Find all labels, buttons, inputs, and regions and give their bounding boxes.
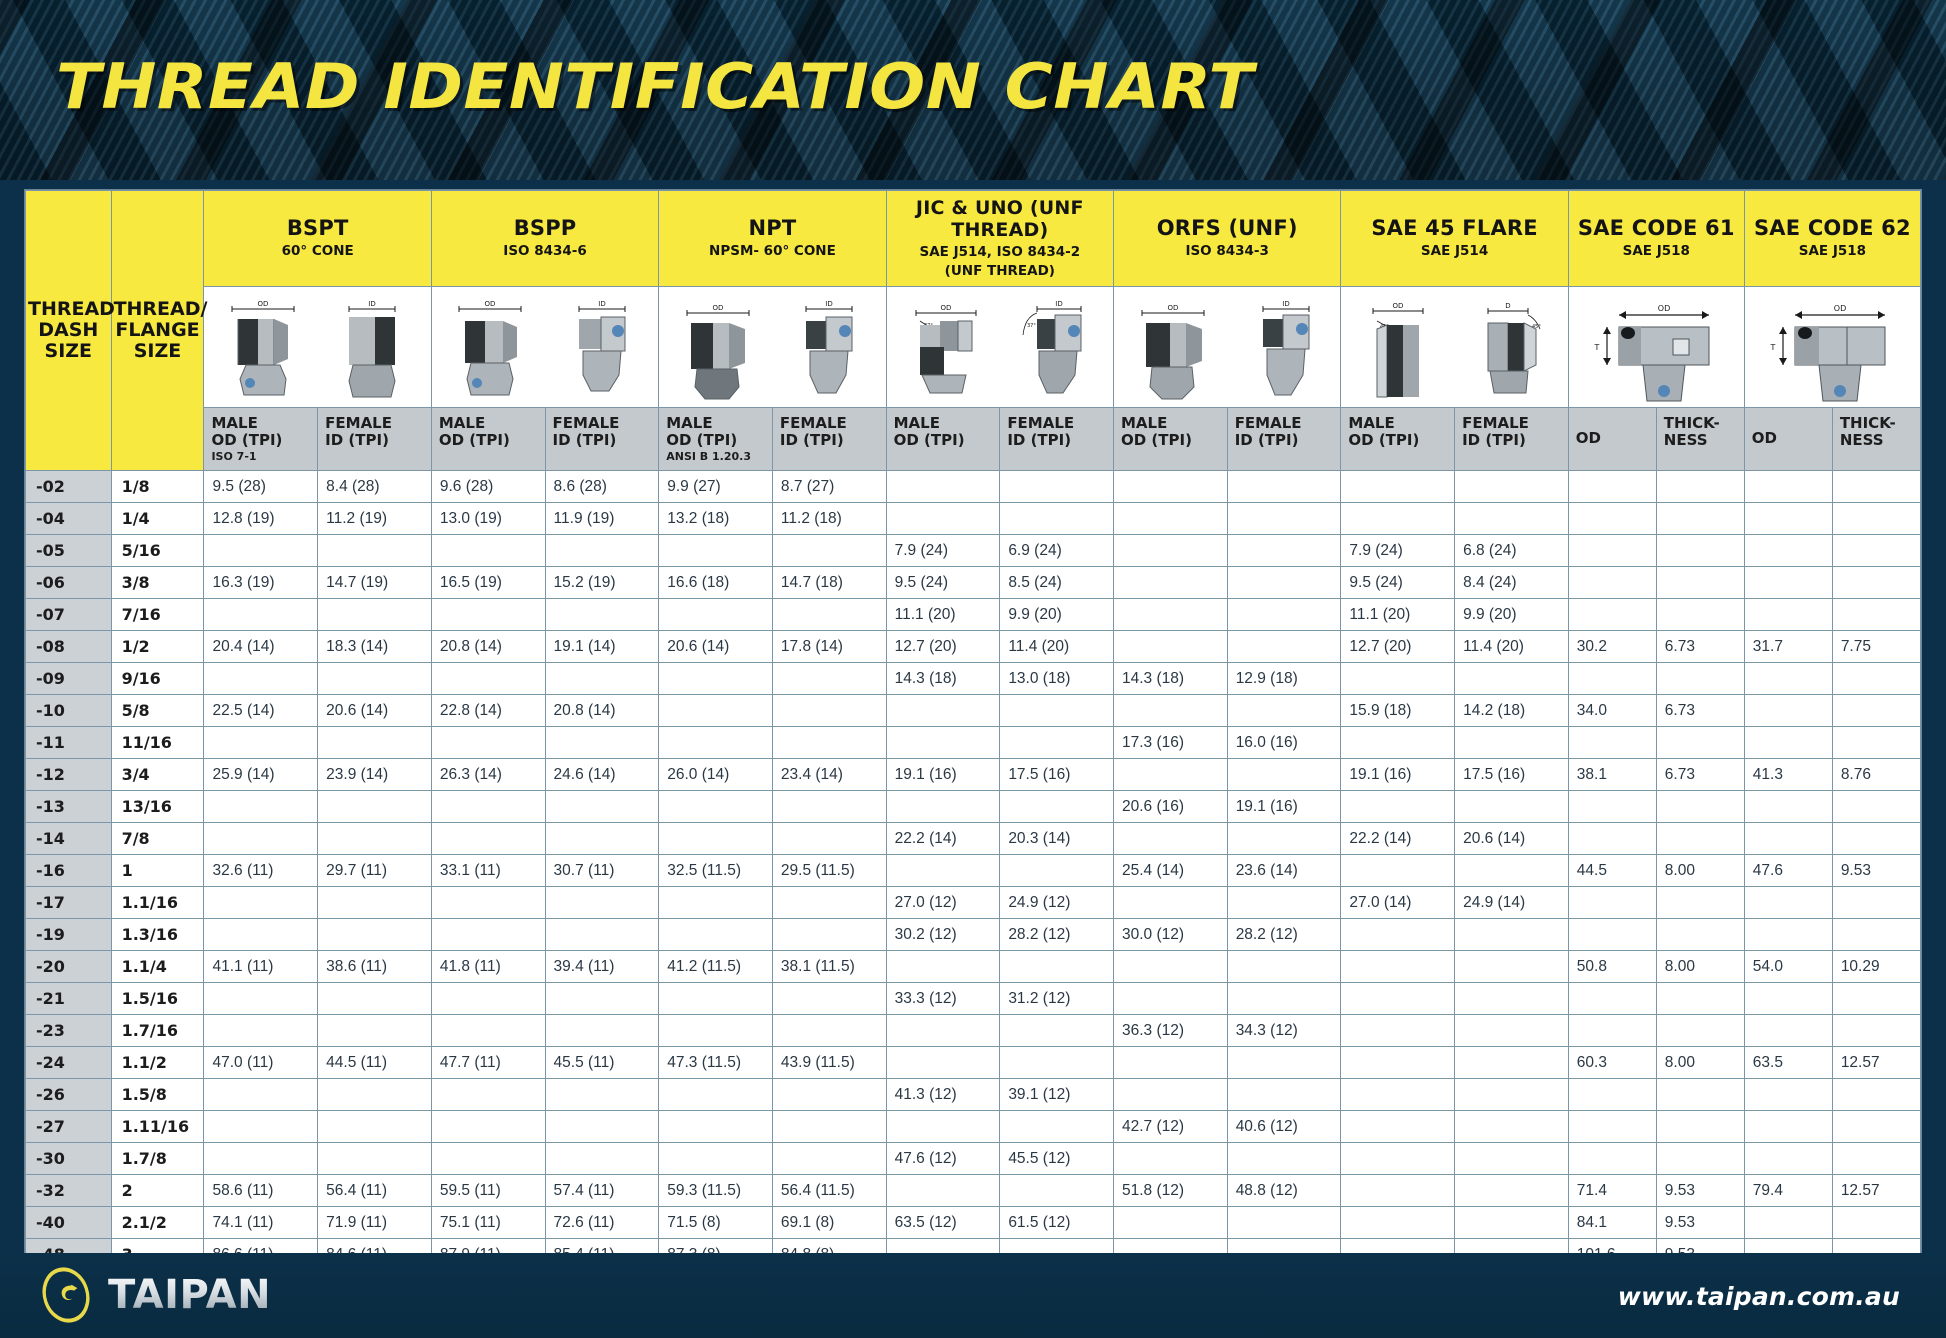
cell-thread-flange-size: 1.5/16 bbox=[111, 983, 204, 1015]
cell-value bbox=[1227, 983, 1341, 1015]
cell-value bbox=[1832, 823, 1920, 855]
cell-value bbox=[204, 791, 318, 823]
cell-value: 27.0 (14) bbox=[1341, 887, 1455, 919]
cell-value: 39.4 (11) bbox=[545, 951, 659, 983]
cell-value bbox=[204, 919, 318, 951]
table-row: -241.1/247.0 (11)44.5 (11)47.7 (11)45.5 … bbox=[26, 1047, 1921, 1079]
website-url[interactable]: www.taipan.com.au bbox=[1618, 1282, 1900, 1311]
cell-value bbox=[1832, 727, 1920, 759]
cell-thread-dash-size: -12 bbox=[26, 759, 112, 791]
cell-value bbox=[886, 1047, 1000, 1079]
cell-value: 22.2 (14) bbox=[1341, 823, 1455, 855]
cell-value: 11.9 (19) bbox=[545, 503, 659, 535]
group-header-npt: NPT NPSM- 60° CONE bbox=[659, 191, 886, 287]
cell-value: 41.1 (11) bbox=[204, 951, 318, 983]
cell-value: 9.53 bbox=[1832, 855, 1920, 887]
cell-value: 22.2 (14) bbox=[886, 823, 1000, 855]
cell-value: 14.3 (18) bbox=[1114, 663, 1228, 695]
cell-thread-flange-size: 1.1/16 bbox=[111, 887, 204, 919]
table-row: -191.3/1630.2 (12)28.2 (12)30.0 (12)28.2… bbox=[26, 919, 1921, 951]
subheader-line1: MALE bbox=[211, 415, 310, 433]
cell-value bbox=[1744, 663, 1832, 695]
cell-value: 9.53 bbox=[1656, 1207, 1744, 1239]
cell-value bbox=[659, 535, 773, 567]
subheader-sae45-male: MALE OD (TPI) bbox=[1341, 407, 1455, 470]
cell-value: 14.2 (18) bbox=[1455, 695, 1569, 727]
cell-thread-dash-size: -23 bbox=[26, 1015, 112, 1047]
subheader-orfs-female: FEMALE ID (TPI) bbox=[1227, 407, 1341, 470]
svg-text:ID: ID bbox=[1056, 300, 1063, 308]
chart-table: THREAD DASH SIZE THREAD/ FLANGE SIZE BSP… bbox=[25, 190, 1921, 1271]
cell-value: 8.5 (24) bbox=[1000, 567, 1114, 599]
cell-value: 29.7 (11) bbox=[318, 855, 432, 887]
cell-value: 30.0 (12) bbox=[1114, 919, 1228, 951]
subheader-code61-thickness: THICK- NESS bbox=[1656, 407, 1744, 470]
cell-value: 7.75 bbox=[1832, 631, 1920, 663]
cell-thread-dash-size: -02 bbox=[26, 471, 112, 503]
cell-thread-flange-size: 3/8 bbox=[111, 567, 204, 599]
cell-value: 25.4 (14) bbox=[1114, 855, 1228, 887]
cell-value bbox=[1114, 567, 1228, 599]
cell-thread-dash-size: -04 bbox=[26, 503, 112, 535]
cell-value bbox=[1227, 759, 1341, 791]
cell-value bbox=[886, 695, 1000, 727]
cell-value bbox=[431, 599, 545, 631]
cell-thread-dash-size: -40 bbox=[26, 1207, 112, 1239]
cell-value: 9.5 (24) bbox=[1341, 567, 1455, 599]
cell-value bbox=[1114, 887, 1228, 919]
cell-value bbox=[659, 983, 773, 1015]
cell-value bbox=[1568, 471, 1656, 503]
cell-value bbox=[545, 599, 659, 631]
cell-thread-flange-size: 1/2 bbox=[111, 631, 204, 663]
table-row: -271.11/1642.7 (12)40.6 (12) bbox=[26, 1111, 1921, 1143]
cell-value: 23.9 (14) bbox=[318, 759, 432, 791]
brand-logo: TAIPAN bbox=[38, 1267, 271, 1323]
table-row: -055/167.9 (24)6.9 (24)7.9 (24)6.8 (24) bbox=[26, 535, 1921, 567]
cell-value: 26.0 (14) bbox=[659, 759, 773, 791]
cell-value bbox=[318, 791, 432, 823]
subheader-line2: OD (TPI) bbox=[211, 432, 310, 450]
cell-value bbox=[772, 823, 886, 855]
cell-thread-dash-size: -32 bbox=[26, 1175, 112, 1207]
cell-value: 16.5 (19) bbox=[431, 567, 545, 599]
cell-value: 33.3 (12) bbox=[886, 983, 1000, 1015]
cell-thread-flange-size: 2 bbox=[111, 1175, 204, 1207]
cell-value bbox=[1568, 887, 1656, 919]
illustration-bspp: OD ID bbox=[431, 286, 658, 407]
cell-value: 16.6 (18) bbox=[659, 567, 773, 599]
cell-value: 74.1 (11) bbox=[204, 1207, 318, 1239]
cell-thread-dash-size: -09 bbox=[26, 663, 112, 695]
cell-value: 20.6 (14) bbox=[1455, 823, 1569, 855]
cell-value: 31.7 bbox=[1744, 631, 1832, 663]
cell-value: 10.29 bbox=[1832, 951, 1920, 983]
subheader-line1: FEMALE bbox=[780, 415, 879, 433]
header-line-1: THREAD/ bbox=[114, 299, 202, 320]
cell-value bbox=[1568, 1143, 1656, 1175]
cell-value: 33.1 (11) bbox=[431, 855, 545, 887]
illustration-sae-45-flare: OD 45° D 45° bbox=[1341, 286, 1568, 407]
cell-value: 31.2 (12) bbox=[1000, 983, 1114, 1015]
cell-value bbox=[1656, 983, 1744, 1015]
cell-value bbox=[204, 1015, 318, 1047]
cell-value: 24.9 (14) bbox=[1455, 887, 1569, 919]
subheader-line2: OD (TPI) bbox=[1348, 432, 1447, 450]
table-row: -041/412.8 (19)11.2 (19)13.0 (19)11.9 (1… bbox=[26, 503, 1921, 535]
fitting-female-illustration: ID bbox=[333, 295, 411, 407]
svg-text:ID: ID bbox=[1282, 300, 1289, 308]
svg-text:T: T bbox=[1770, 343, 1776, 352]
flange-code-62-illustration: OD T bbox=[1757, 295, 1907, 407]
cell-value bbox=[1000, 471, 1114, 503]
subheader-line1: FEMALE bbox=[1235, 415, 1334, 433]
cell-value: 23.6 (14) bbox=[1227, 855, 1341, 887]
cell-value bbox=[1227, 567, 1341, 599]
subheader-line1: MALE bbox=[894, 415, 993, 433]
cell-value: 9.6 (28) bbox=[431, 471, 545, 503]
cell-value: 56.4 (11.5) bbox=[772, 1175, 886, 1207]
cell-value: 20.6 (14) bbox=[659, 631, 773, 663]
cell-value: 22.5 (14) bbox=[204, 695, 318, 727]
cell-value bbox=[1832, 1143, 1920, 1175]
cell-value bbox=[1114, 1143, 1228, 1175]
cell-value: 19.1 (16) bbox=[886, 759, 1000, 791]
cell-value bbox=[1832, 695, 1920, 727]
cell-value bbox=[1832, 1111, 1920, 1143]
subheader-line2: OD (TPI) bbox=[894, 432, 993, 450]
cell-value bbox=[1656, 823, 1744, 855]
cell-value bbox=[886, 727, 1000, 759]
cell-value: 24.9 (12) bbox=[1000, 887, 1114, 919]
cell-value bbox=[318, 887, 432, 919]
cell-value: 11.1 (20) bbox=[886, 599, 1000, 631]
footer-bar: TAIPAN www.taipan.com.au bbox=[0, 1253, 1946, 1338]
table-row: -32258.6 (11)56.4 (11)59.5 (11)57.4 (11)… bbox=[26, 1175, 1921, 1207]
header-banner: THREAD IDENTIFICATION CHART bbox=[0, 0, 1946, 180]
subheader-line2: ID (TPI) bbox=[1462, 432, 1561, 450]
cell-value bbox=[1455, 1111, 1569, 1143]
svg-text:OD: OD bbox=[485, 300, 496, 308]
table-row: -077/1611.1 (20)9.9 (20)11.1 (20)9.9 (20… bbox=[26, 599, 1921, 631]
group-name: BSPT bbox=[208, 216, 426, 241]
cell-value: 39.1 (12) bbox=[1000, 1079, 1114, 1111]
cell-thread-flange-size: 1/8 bbox=[111, 471, 204, 503]
flange-code-61-illustration: OD T bbox=[1581, 295, 1731, 407]
cell-value: 19.1 (14) bbox=[545, 631, 659, 663]
cell-value: 45.5 (12) bbox=[1000, 1143, 1114, 1175]
cell-value: 12.9 (18) bbox=[1227, 663, 1341, 695]
cell-thread-flange-size: 1 bbox=[111, 855, 204, 887]
subheader-sae45-female: FEMALE ID (TPI) bbox=[1455, 407, 1569, 470]
cell-value: 11.2 (18) bbox=[772, 503, 886, 535]
svg-text:ID: ID bbox=[598, 300, 605, 308]
svg-text:OD: OD bbox=[712, 304, 723, 312]
cell-value bbox=[545, 983, 659, 1015]
svg-text:37°: 37° bbox=[1027, 323, 1036, 329]
illustration-sae-code-62: OD T bbox=[1744, 286, 1920, 407]
subheader-bspt-female: FEMALE ID (TPI) bbox=[318, 407, 432, 470]
cell-value bbox=[1832, 1015, 1920, 1047]
cell-thread-flange-size: 1.3/16 bbox=[111, 919, 204, 951]
cell-value bbox=[1000, 791, 1114, 823]
cell-value bbox=[545, 1015, 659, 1047]
cell-value bbox=[1455, 471, 1569, 503]
cell-thread-dash-size: -27 bbox=[26, 1111, 112, 1143]
subheader-line1: OD bbox=[1576, 430, 1649, 448]
cell-value bbox=[1000, 727, 1114, 759]
cell-thread-dash-size: -16 bbox=[26, 855, 112, 887]
cell-thread-dash-size: -26 bbox=[26, 1079, 112, 1111]
subheader-npt-female: FEMALE ID (TPI) bbox=[772, 407, 886, 470]
cell-value bbox=[1000, 951, 1114, 983]
cell-value bbox=[1000, 855, 1114, 887]
subheader-line1: THICK- bbox=[1840, 415, 1913, 433]
svg-text:OD: OD bbox=[1167, 304, 1178, 312]
cell-value: 6.9 (24) bbox=[1000, 535, 1114, 567]
cell-value bbox=[1832, 1207, 1920, 1239]
cell-value bbox=[1341, 919, 1455, 951]
cell-value bbox=[1114, 695, 1228, 727]
cell-value: 17.5 (16) bbox=[1000, 759, 1114, 791]
subheader-line1: MALE bbox=[666, 415, 765, 433]
cell-value bbox=[886, 951, 1000, 983]
subheader-line1: FEMALE bbox=[1007, 415, 1106, 433]
cell-value bbox=[1455, 1175, 1569, 1207]
cell-value: 38.1 (11.5) bbox=[772, 951, 886, 983]
cell-value: 11.4 (20) bbox=[1455, 631, 1569, 663]
table-row: -123/425.9 (14)23.9 (14)26.3 (14)24.6 (1… bbox=[26, 759, 1921, 791]
cell-value bbox=[431, 1079, 545, 1111]
cell-value bbox=[1832, 1079, 1920, 1111]
sub-header-row: MALE OD (TPI) ISO 7-1 FEMALE ID (TPI) MA… bbox=[26, 407, 1921, 470]
cell-value bbox=[1832, 503, 1920, 535]
svg-text:OD: OD bbox=[1834, 304, 1846, 313]
cell-value bbox=[1114, 631, 1228, 663]
fitting-male-illustration: OD bbox=[679, 295, 757, 407]
subheader-line2: ID (TPI) bbox=[780, 432, 879, 450]
cell-value bbox=[545, 791, 659, 823]
snake-glyph bbox=[54, 1279, 80, 1311]
cell-value: 18.3 (14) bbox=[318, 631, 432, 663]
table-row: -402.1/274.1 (11)71.9 (11)75.1 (11)72.6 … bbox=[26, 1207, 1921, 1239]
cell-value bbox=[431, 663, 545, 695]
cell-value bbox=[886, 471, 1000, 503]
cell-value bbox=[1227, 695, 1341, 727]
cell-value bbox=[1227, 535, 1341, 567]
cell-value: 23.4 (14) bbox=[772, 759, 886, 791]
cell-value bbox=[1114, 471, 1228, 503]
cell-value bbox=[886, 1111, 1000, 1143]
cell-value: 43.9 (11.5) bbox=[772, 1047, 886, 1079]
cell-value: 32.6 (11) bbox=[204, 855, 318, 887]
cell-value bbox=[659, 727, 773, 759]
cell-value bbox=[1744, 1143, 1832, 1175]
cell-value: 15.2 (19) bbox=[545, 567, 659, 599]
cell-value bbox=[772, 1079, 886, 1111]
cell-value: 20.6 (14) bbox=[318, 695, 432, 727]
cell-value: 6.73 bbox=[1656, 759, 1744, 791]
cell-value bbox=[1000, 1015, 1114, 1047]
cell-value: 71.5 (8) bbox=[659, 1207, 773, 1239]
cell-thread-flange-size: 5/16 bbox=[111, 535, 204, 567]
cell-value: 48.8 (12) bbox=[1227, 1175, 1341, 1207]
group-header-orfs: ORFS (UNF) ISO 8434-3 bbox=[1114, 191, 1341, 287]
cell-value: 25.9 (14) bbox=[204, 759, 318, 791]
cell-thread-flange-size: 2.1/2 bbox=[111, 1207, 204, 1239]
cell-value bbox=[1568, 983, 1656, 1015]
cell-value bbox=[1341, 727, 1455, 759]
subheader-jic-female: FEMALE ID (TPI) bbox=[1000, 407, 1114, 470]
cell-value bbox=[1744, 503, 1832, 535]
cell-value: 38.6 (11) bbox=[318, 951, 432, 983]
cell-value: 26.3 (14) bbox=[431, 759, 545, 791]
cell-value bbox=[1455, 1047, 1569, 1079]
illustration-bspt: OD ID bbox=[204, 286, 431, 407]
cell-value bbox=[1744, 823, 1832, 855]
cell-value: 42.7 (12) bbox=[1114, 1111, 1228, 1143]
cell-thread-dash-size: -30 bbox=[26, 1143, 112, 1175]
illustration-jic-uno: OD 37° ID 37° bbox=[886, 286, 1113, 407]
group-standard: ISO 8434-3 bbox=[1118, 244, 1336, 260]
cell-value: 20.4 (14) bbox=[204, 631, 318, 663]
cell-value bbox=[1744, 887, 1832, 919]
cell-thread-flange-size: 11/16 bbox=[111, 727, 204, 759]
group-standard: SAE J514 bbox=[1345, 244, 1563, 260]
cell-thread-flange-size: 1.7/16 bbox=[111, 1015, 204, 1047]
subheader-line1: FEMALE bbox=[553, 415, 652, 433]
cell-value bbox=[1227, 823, 1341, 855]
cell-value: 19.1 (16) bbox=[1227, 791, 1341, 823]
illustration-orfs: OD ID bbox=[1114, 286, 1341, 407]
cell-value bbox=[1568, 791, 1656, 823]
cell-thread-flange-size: 1.7/8 bbox=[111, 1143, 204, 1175]
cell-value bbox=[1455, 1015, 1569, 1047]
cell-value: 13.0 (19) bbox=[431, 503, 545, 535]
group-header-row: THREAD DASH SIZE THREAD/ FLANGE SIZE BSP… bbox=[26, 191, 1921, 287]
fitting-female-illustration: ID 37° bbox=[1015, 295, 1093, 407]
cell-value bbox=[204, 887, 318, 919]
table-row: -1111/1617.3 (16)16.0 (16) bbox=[26, 727, 1921, 759]
cell-value bbox=[659, 823, 773, 855]
group-standard: SAE J514, ISO 8434-2 bbox=[891, 245, 1109, 261]
cell-value bbox=[886, 503, 1000, 535]
cell-value bbox=[545, 887, 659, 919]
cell-value bbox=[659, 919, 773, 951]
cell-value bbox=[1832, 663, 1920, 695]
subheader-line2: OD (TPI) bbox=[439, 432, 538, 450]
cell-value bbox=[318, 983, 432, 1015]
cell-thread-dash-size: -20 bbox=[26, 951, 112, 983]
cell-value: 24.6 (14) bbox=[545, 759, 659, 791]
cell-value: 12.57 bbox=[1832, 1175, 1920, 1207]
cell-thread-flange-size: 7/16 bbox=[111, 599, 204, 631]
cell-value: 30.2 (12) bbox=[886, 919, 1000, 951]
cell-value: 79.4 bbox=[1744, 1175, 1832, 1207]
cell-value bbox=[1744, 791, 1832, 823]
cell-value bbox=[1455, 663, 1569, 695]
cell-value bbox=[1227, 1143, 1341, 1175]
group-standard: 60° CONE bbox=[208, 244, 426, 260]
cell-value: 9.9 (20) bbox=[1000, 599, 1114, 631]
cell-value bbox=[545, 535, 659, 567]
cell-thread-dash-size: -06 bbox=[26, 567, 112, 599]
table-row: -211.5/1633.3 (12)31.2 (12) bbox=[26, 983, 1921, 1015]
cell-value bbox=[431, 535, 545, 567]
cell-value: 47.7 (11) bbox=[431, 1047, 545, 1079]
cell-value bbox=[1656, 1079, 1744, 1111]
cell-value bbox=[318, 1015, 432, 1047]
cell-value bbox=[1114, 1047, 1228, 1079]
cell-value bbox=[772, 983, 886, 1015]
subheader-code62-od: OD bbox=[1744, 407, 1832, 470]
table-row: -105/822.5 (14)20.6 (14)22.8 (14)20.8 (1… bbox=[26, 695, 1921, 727]
subheader-line2: OD (TPI) bbox=[1121, 432, 1220, 450]
cell-value: 38.1 bbox=[1568, 759, 1656, 791]
svg-text:OD: OD bbox=[941, 304, 952, 312]
cell-value bbox=[1341, 663, 1455, 695]
cell-value bbox=[1000, 1111, 1114, 1143]
group-standard: SAE J518 bbox=[1573, 244, 1740, 260]
cell-value bbox=[1000, 695, 1114, 727]
cell-value: 40.6 (12) bbox=[1227, 1111, 1341, 1143]
svg-text:OD: OD bbox=[1658, 304, 1670, 313]
cell-value: 13.2 (18) bbox=[659, 503, 773, 535]
brand-name: TAIPAN bbox=[108, 1272, 271, 1318]
cell-thread-dash-size: -05 bbox=[26, 535, 112, 567]
cell-value bbox=[1744, 695, 1832, 727]
header-thread-flange-size: THREAD/ FLANGE SIZE bbox=[111, 191, 204, 471]
cell-value: 16.3 (19) bbox=[204, 567, 318, 599]
cell-value: 27.0 (12) bbox=[886, 887, 1000, 919]
cell-value: 15.9 (18) bbox=[1341, 695, 1455, 727]
cell-thread-flange-size: 1.11/16 bbox=[111, 1111, 204, 1143]
cell-value bbox=[1114, 503, 1228, 535]
cell-value bbox=[1744, 471, 1832, 503]
svg-text:OD: OD bbox=[258, 300, 269, 308]
cell-value bbox=[1114, 759, 1228, 791]
cell-value bbox=[204, 1143, 318, 1175]
cell-value: 9.53 bbox=[1656, 1175, 1744, 1207]
subheader-code62-thickness: THICK- NESS bbox=[1832, 407, 1920, 470]
cell-value bbox=[772, 1143, 886, 1175]
cell-value: 20.6 (16) bbox=[1114, 791, 1228, 823]
cell-value bbox=[1568, 535, 1656, 567]
cell-value: 44.5 bbox=[1568, 855, 1656, 887]
cell-value: 72.6 (11) bbox=[545, 1207, 659, 1239]
cell-thread-dash-size: -19 bbox=[26, 919, 112, 951]
cell-value: 47.6 (12) bbox=[886, 1143, 1000, 1175]
cell-value bbox=[1455, 791, 1569, 823]
cell-value bbox=[1227, 631, 1341, 663]
cell-thread-flange-size: 13/16 bbox=[111, 791, 204, 823]
cell-value bbox=[1744, 983, 1832, 1015]
cell-value: 34.3 (12) bbox=[1227, 1015, 1341, 1047]
cell-value bbox=[772, 599, 886, 631]
cell-value bbox=[1744, 535, 1832, 567]
cell-value bbox=[659, 1111, 773, 1143]
cell-value: 11.4 (20) bbox=[1000, 631, 1114, 663]
cell-value bbox=[318, 727, 432, 759]
cell-value: 41.3 bbox=[1744, 759, 1832, 791]
cell-value bbox=[886, 855, 1000, 887]
cell-value bbox=[1341, 1047, 1455, 1079]
cell-value bbox=[1568, 919, 1656, 951]
cell-value: 47.6 bbox=[1744, 855, 1832, 887]
cell-value bbox=[1656, 535, 1744, 567]
cell-value bbox=[1568, 599, 1656, 631]
cell-value: 71.4 bbox=[1568, 1175, 1656, 1207]
